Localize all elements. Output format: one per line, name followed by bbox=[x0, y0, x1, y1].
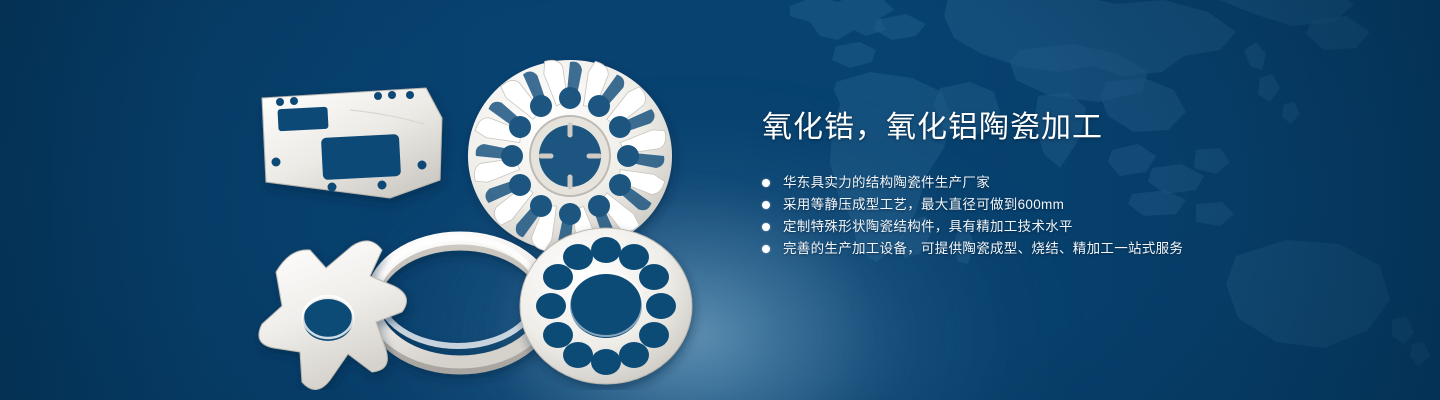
feature-list: 华东具实力的结构陶瓷件生产厂家 采用等静压成型工艺，最大直径可做到600mm 定… bbox=[762, 172, 1382, 260]
bullet-dot-icon bbox=[762, 201, 770, 209]
bullet-dot-icon bbox=[762, 223, 770, 231]
list-item-label: 采用等静压成型工艺，最大直径可做到600mm bbox=[783, 194, 1064, 216]
ceramic-products-collage bbox=[230, 30, 710, 390]
list-item: 华东具实力的结构陶瓷件生产厂家 bbox=[762, 172, 1382, 194]
page-title: 氧化锆，氧化铝陶瓷加工 bbox=[762, 108, 1382, 148]
list-item: 采用等静压成型工艺，最大直径可做到600mm bbox=[762, 194, 1382, 216]
ceramic-flat-plate bbox=[262, 88, 442, 198]
list-item: 完善的生产加工设备，可提供陶瓷成型、烧结、精加工一站式服务 bbox=[762, 238, 1382, 260]
hero-banner: 氧化锆，氧化铝陶瓷加工 华东具实力的结构陶瓷件生产厂家 采用等静压成型工艺，最大… bbox=[0, 0, 1440, 400]
list-item: 定制特殊形状陶瓷结构件，具有精加工技术水平 bbox=[762, 216, 1382, 238]
ceramic-perforated-disc bbox=[520, 228, 692, 384]
banner-copy: 氧化锆，氧化铝陶瓷加工 华东具实力的结构陶瓷件生产厂家 采用等静压成型工艺，最大… bbox=[762, 108, 1382, 260]
ceramic-impeller-disc bbox=[468, 57, 672, 255]
bullet-dot-icon bbox=[762, 245, 770, 253]
list-item-label: 华东具实力的结构陶瓷件生产厂家 bbox=[783, 172, 990, 194]
list-item-label: 定制特殊形状陶瓷结构件，具有精加工技术水平 bbox=[783, 216, 1073, 238]
list-item-label: 完善的生产加工设备，可提供陶瓷成型、烧结、精加工一站式服务 bbox=[783, 238, 1183, 260]
bullet-dot-icon bbox=[762, 179, 770, 187]
